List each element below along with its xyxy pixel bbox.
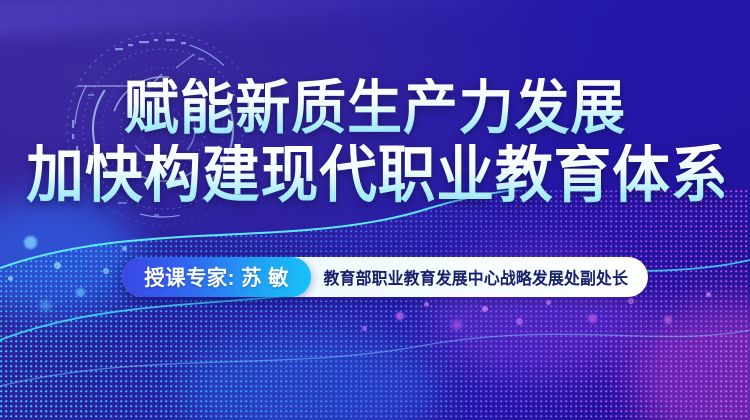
poster-title: 赋能新质生产力发展 加快构建现代职业教育体系	[0, 78, 750, 207]
title-line-1: 赋能新质生产力发展	[26, 78, 724, 138]
diagonal-light-streak-secondary	[0, 0, 750, 48]
diagonal-light-streak	[0, 0, 750, 36]
bokeh-dot	[122, 246, 127, 251]
bokeh-dot	[424, 302, 429, 307]
bokeh-dot	[482, 306, 488, 312]
speaker-affiliation-label: 教育部职业教育发展中心战略发展处副处长	[317, 257, 641, 297]
bokeh-dot	[628, 298, 634, 304]
speaker-name-pill: 授课专家: 苏 敏	[122, 257, 311, 297]
bokeh-dot	[76, 288, 85, 297]
speaker-name-label: 授课专家: 苏 敏	[144, 262, 289, 292]
bokeh-dot	[40, 300, 51, 311]
bokeh-dot	[103, 268, 109, 274]
bokeh-dot	[706, 292, 711, 297]
glow-blob-left	[0, 195, 140, 315]
bokeh-dot	[546, 300, 551, 305]
particle-wave-icon	[0, 190, 750, 420]
speaker-bar: 授课专家: 苏 敏 教育部职业教育发展中心战略发展处副处长	[122, 257, 648, 297]
glow-blob-bottom	[180, 330, 440, 420]
poster-banner: 赋能新质生产力发展 加快构建现代职业教育体系 授课专家: 苏 敏 教育部职业教育…	[0, 0, 750, 420]
bokeh-dot	[54, 262, 61, 269]
bokeh-dot	[24, 236, 37, 249]
bokeh-dot	[588, 314, 597, 323]
bokeh-dot	[8, 276, 13, 281]
bokeh-dot	[396, 312, 404, 320]
bokeh-dot	[664, 316, 672, 324]
glow-blob-right	[630, 300, 750, 420]
bokeh-dot	[516, 318, 523, 325]
bokeh-dot	[452, 320, 462, 330]
title-line-2: 加快构建现代职业教育体系	[26, 144, 724, 207]
bokeh-dot	[362, 326, 367, 331]
